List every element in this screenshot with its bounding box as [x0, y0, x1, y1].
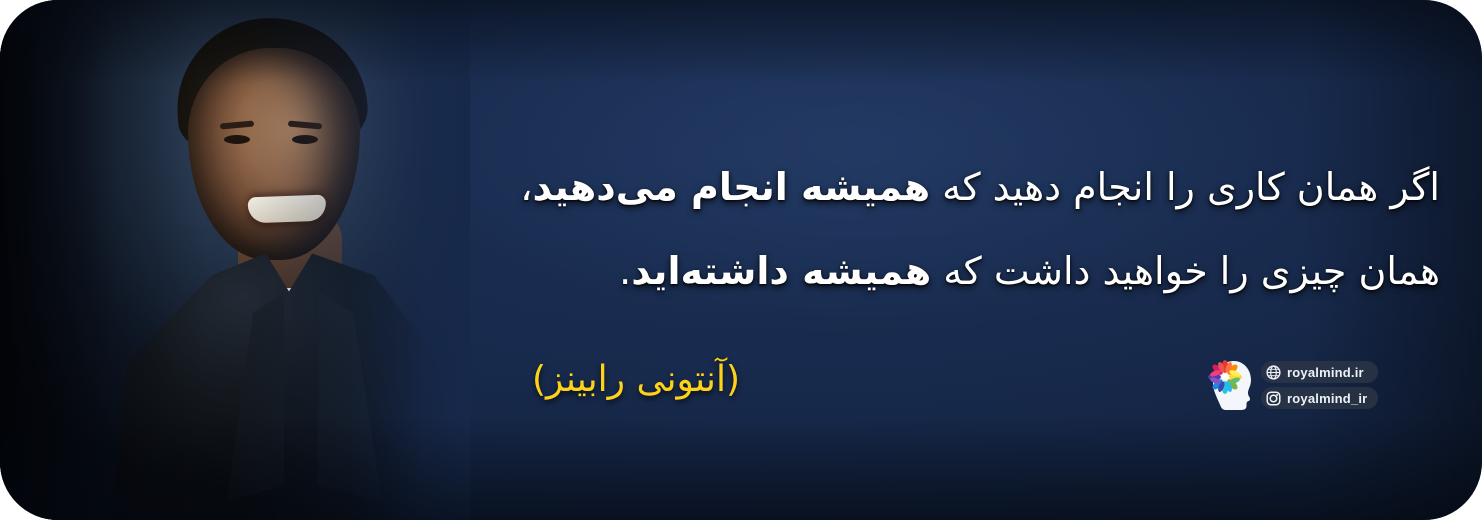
quote-line-1-emphasis: همیشه انجام می‌دهید — [532, 165, 930, 209]
quote-line-2: همان چیزی را خواهید داشت که همیشه داشته‌… — [400, 252, 1440, 290]
globe-icon — [1266, 365, 1281, 380]
watermark-instagram-label: royalmind_ir — [1287, 392, 1367, 405]
watermark-pills: royalmind.ir royalmind_ir — [1261, 361, 1378, 409]
quote-line-2-plain-before: همان چیزی را خواهید داشت که — [931, 249, 1440, 293]
brain-head-flower-logo — [1208, 358, 1254, 412]
watermark: royalmind.ir royalmind_ir — [1208, 358, 1378, 412]
instagram-icon — [1266, 391, 1281, 406]
flower-petals — [1208, 360, 1242, 394]
quote-card: اگر همان کاری را انجام دهید که همیشه انج… — [0, 0, 1482, 520]
quote-line-1-plain-before: اگر همان کاری را انجام دهید که — [930, 165, 1440, 209]
watermark-website-label: royalmind.ir — [1287, 366, 1364, 379]
quote-line-2-plain-after: . — [619, 249, 631, 293]
quote-text: اگر همان کاری را انجام دهید که همیشه انج… — [400, 168, 1440, 290]
quote-attribution: (آنتونی رابینز) — [532, 362, 740, 398]
quote-line-1-plain-after: ، — [520, 165, 532, 209]
quote-line-1: اگر همان کاری را انجام دهید که همیشه انج… — [400, 168, 1440, 206]
watermark-pill-website[interactable]: royalmind.ir — [1261, 361, 1378, 383]
quote-line-2-emphasis: همیشه داشته‌اید — [631, 249, 931, 293]
watermark-pill-instagram[interactable]: royalmind_ir — [1261, 387, 1378, 409]
